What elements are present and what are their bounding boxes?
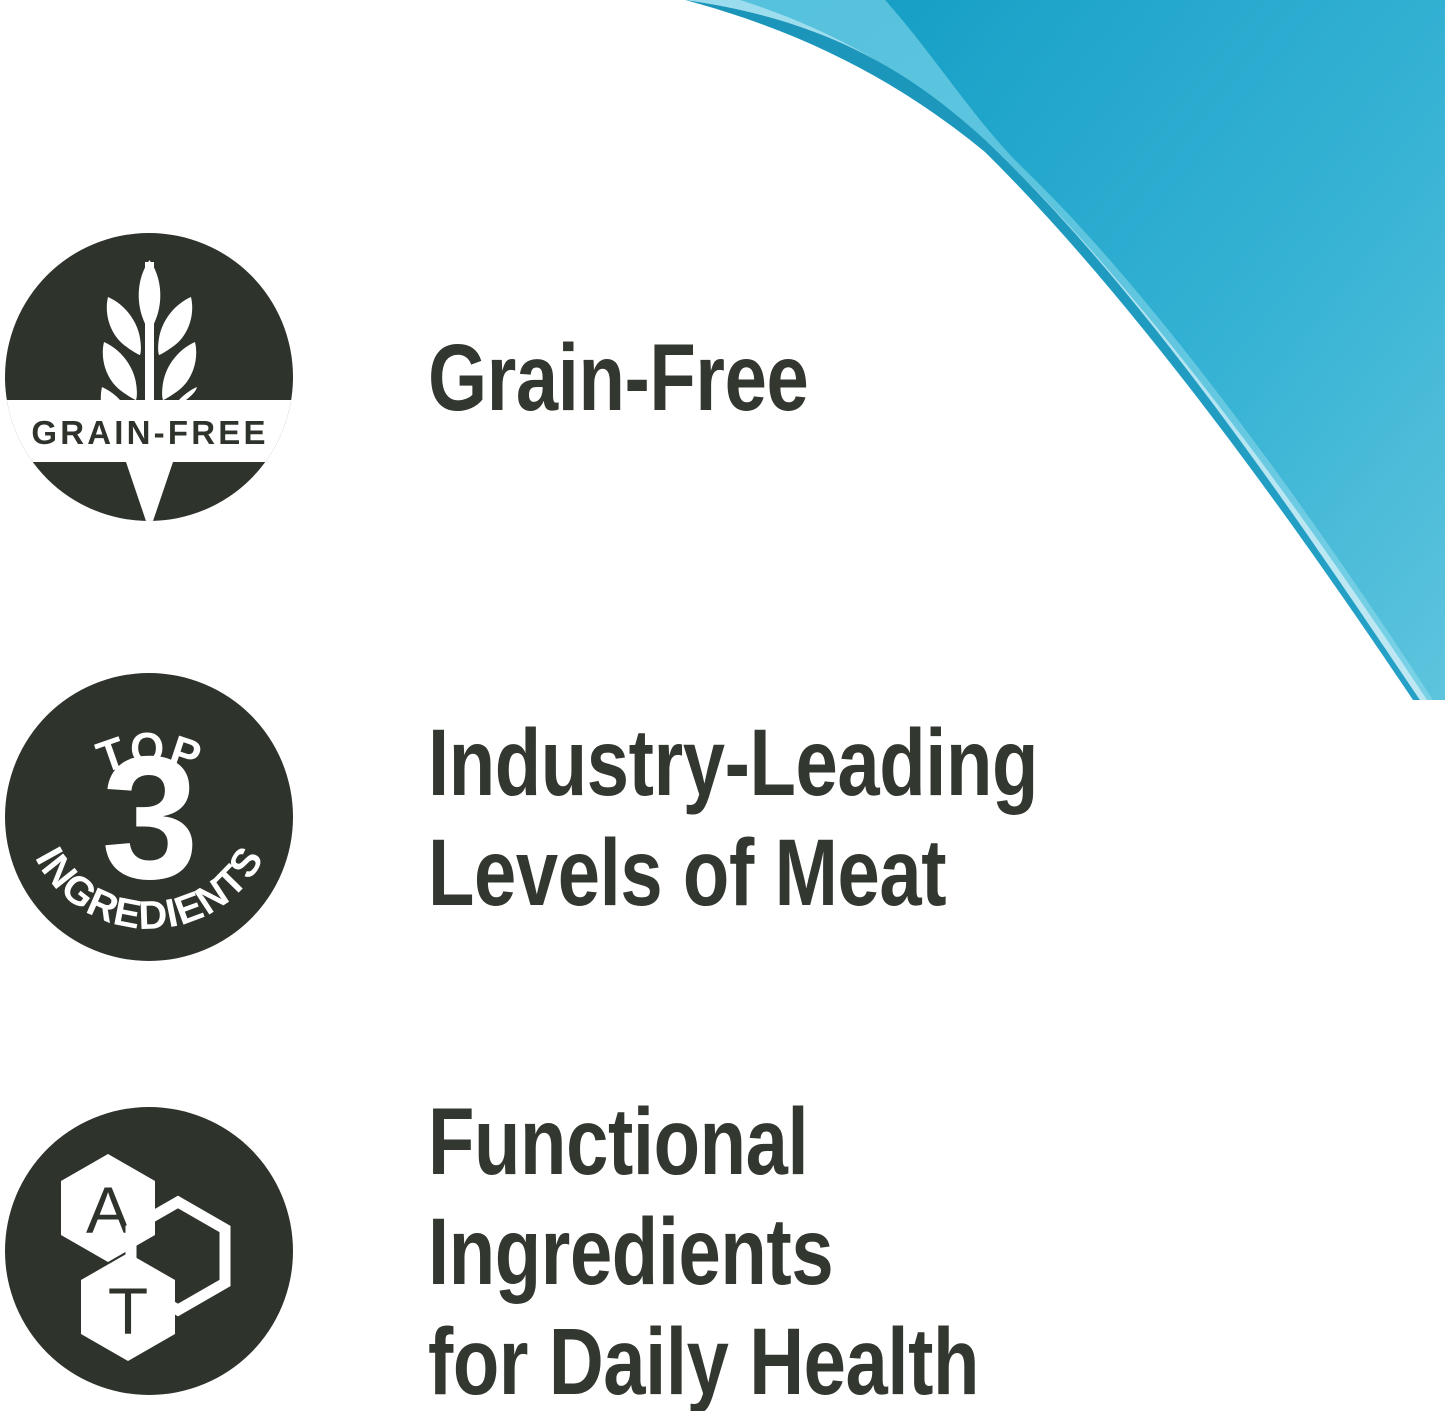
hexagon-a: A (61, 1154, 155, 1262)
feature-heading-functional-ingredients: Functional Ingredients for Daily Health (428, 1087, 1126, 1411)
feature-row-top-3-ingredients: TOP 3 INGREDIENTS Industry-Leading Level… (0, 672, 1300, 964)
feature-heading-industry-leading: Industry-Leading Levels of Meat (428, 708, 1038, 928)
feature-row-functional-ingredients: A T Functional Ingredients for Daily Hea… (0, 1106, 1300, 1398)
feature-graphic-canvas: GRAIN-FREE Grain-Free TOP 3 INGREDIENTS (0, 0, 1445, 1411)
badge-slot-top-3-ingredients: TOP 3 INGREDIENTS (0, 672, 300, 964)
svg-text:3: 3 (101, 721, 198, 916)
top-3-ingredients-badge-icon: TOP 3 INGREDIENTS (0, 672, 300, 964)
hexagon-t: T (81, 1253, 175, 1361)
badge-slot-grain-free: GRAIN-FREE (0, 232, 300, 524)
svg-text:GRAIN-FREE: GRAIN-FREE (31, 414, 268, 451)
svg-text:T: T (108, 1274, 148, 1348)
grain-free-badge-label: GRAIN-FREE (0, 232, 300, 524)
badge-slot-functional-ingredients: A T (0, 1106, 300, 1398)
feature-heading-grain-free: Grain-Free (428, 323, 808, 433)
feature-row-grain-free: GRAIN-FREE Grain-Free (0, 232, 1300, 524)
svg-text:A: A (86, 1173, 130, 1247)
hexagon-molecule-badge-icon: A T (0, 1106, 300, 1398)
